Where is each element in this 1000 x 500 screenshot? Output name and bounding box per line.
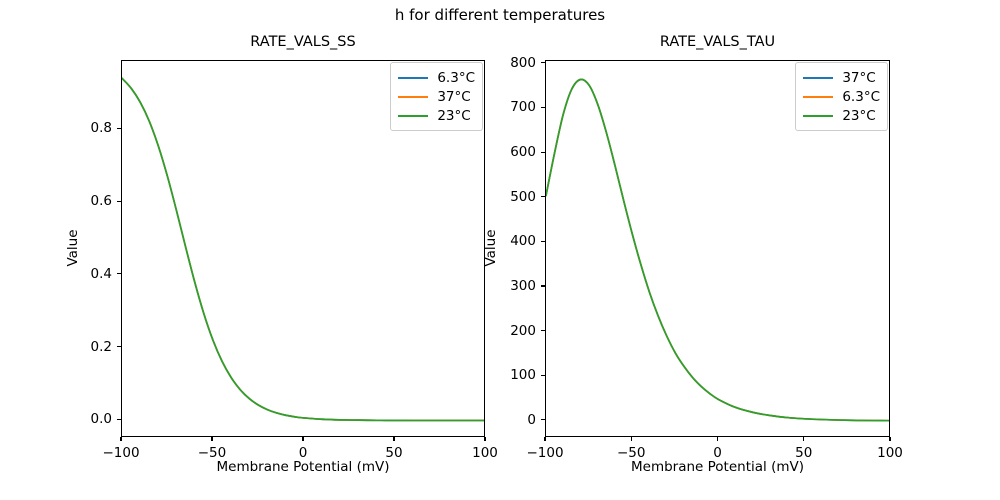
legend-entry[interactable]: 6.3°C: [803, 87, 880, 106]
y-axis-label: Value: [65, 229, 81, 266]
y-tick-label: 0.0: [91, 411, 112, 427]
legend-label: 37°C: [842, 70, 875, 86]
figure-suptitle: h for different temperatures: [0, 6, 1000, 24]
y-tick-mark: [541, 285, 545, 286]
subplot-title: RATE_VALS_SS: [121, 33, 485, 51]
y-tick-mark: [541, 196, 545, 197]
y-tick-label: 0.4: [91, 266, 112, 282]
legend-line-icon: [803, 115, 833, 117]
y-tick-label: 500: [510, 189, 536, 205]
y-tick-mark: [541, 419, 545, 420]
x-tick-mark: [211, 437, 212, 441]
y-tick-label: 300: [510, 278, 536, 294]
matplotlib-figure: h for different temperatures RATE_VALS_S…: [0, 0, 1000, 500]
y-tick-mark: [541, 62, 545, 63]
y-tick-mark: [541, 107, 545, 108]
y-tick-mark: [117, 201, 121, 202]
legend-line-icon: [398, 77, 428, 79]
y-tick-mark: [541, 241, 545, 242]
legend-entry[interactable]: 23°C: [398, 106, 475, 125]
x-tick-mark: [120, 437, 121, 441]
legend-line-icon: [803, 96, 833, 98]
x-tick-mark: [302, 437, 303, 441]
x-axis-label: Membrane Potential (mV): [545, 459, 890, 475]
y-tick-label: 100: [510, 367, 536, 383]
y-tick-label: 0.6: [91, 193, 112, 209]
legend-label: 23°C: [842, 108, 875, 124]
legend-entry[interactable]: 37°C: [398, 87, 475, 106]
y-tick-mark: [541, 375, 545, 376]
y-tick-label: 400: [510, 233, 536, 249]
y-tick-label: 0: [527, 412, 536, 428]
y-tick-label: 0.8: [91, 120, 112, 136]
legend-entry[interactable]: 6.3°C: [398, 68, 475, 87]
legend-entry[interactable]: 23°C: [803, 106, 880, 125]
legend-label: 6.3°C: [437, 70, 475, 86]
y-tick-mark: [117, 346, 121, 347]
x-tick-mark: [717, 437, 718, 441]
legend-label: 6.3°C: [842, 89, 880, 105]
y-tick-label: 200: [510, 323, 536, 339]
x-tick-mark: [393, 437, 394, 441]
legend-line-icon: [803, 77, 833, 79]
x-tick-mark: [544, 437, 545, 441]
y-tick-label: 800: [510, 55, 536, 71]
y-tick-mark: [117, 419, 121, 420]
y-tick-label: 600: [510, 144, 536, 160]
legend-line-icon: [398, 96, 428, 98]
x-tick-mark: [484, 437, 485, 441]
y-tick-label: 700: [510, 99, 536, 115]
x-tick-mark: [631, 437, 632, 441]
x-tick-mark: [803, 437, 804, 441]
y-axis-label: Value: [483, 229, 499, 266]
x-axis-label: Membrane Potential (mV): [121, 459, 485, 475]
subplot-title: RATE_VALS_TAU: [545, 33, 890, 51]
x-tick-mark: [889, 437, 890, 441]
y-tick-label: 0.2: [91, 339, 112, 355]
legend-label: 37°C: [437, 89, 470, 105]
y-tick-mark: [541, 330, 545, 331]
y-tick-mark: [117, 273, 121, 274]
legend-entry[interactable]: 37°C: [803, 68, 880, 87]
legend[interactable]: 37°C6.3°C23°C: [795, 62, 888, 131]
subplot-rate-vals-tau: RATE_VALS_TAU −100−500501000100200300400…: [545, 60, 890, 437]
legend[interactable]: 6.3°C37°C23°C: [390, 62, 483, 131]
legend-line-icon: [398, 115, 428, 117]
y-tick-mark: [117, 128, 121, 129]
y-tick-mark: [541, 152, 545, 153]
subplot-rate-vals-ss: RATE_VALS_SS −100−500501000.00.20.40.60.…: [121, 60, 485, 437]
legend-label: 23°C: [437, 108, 470, 124]
